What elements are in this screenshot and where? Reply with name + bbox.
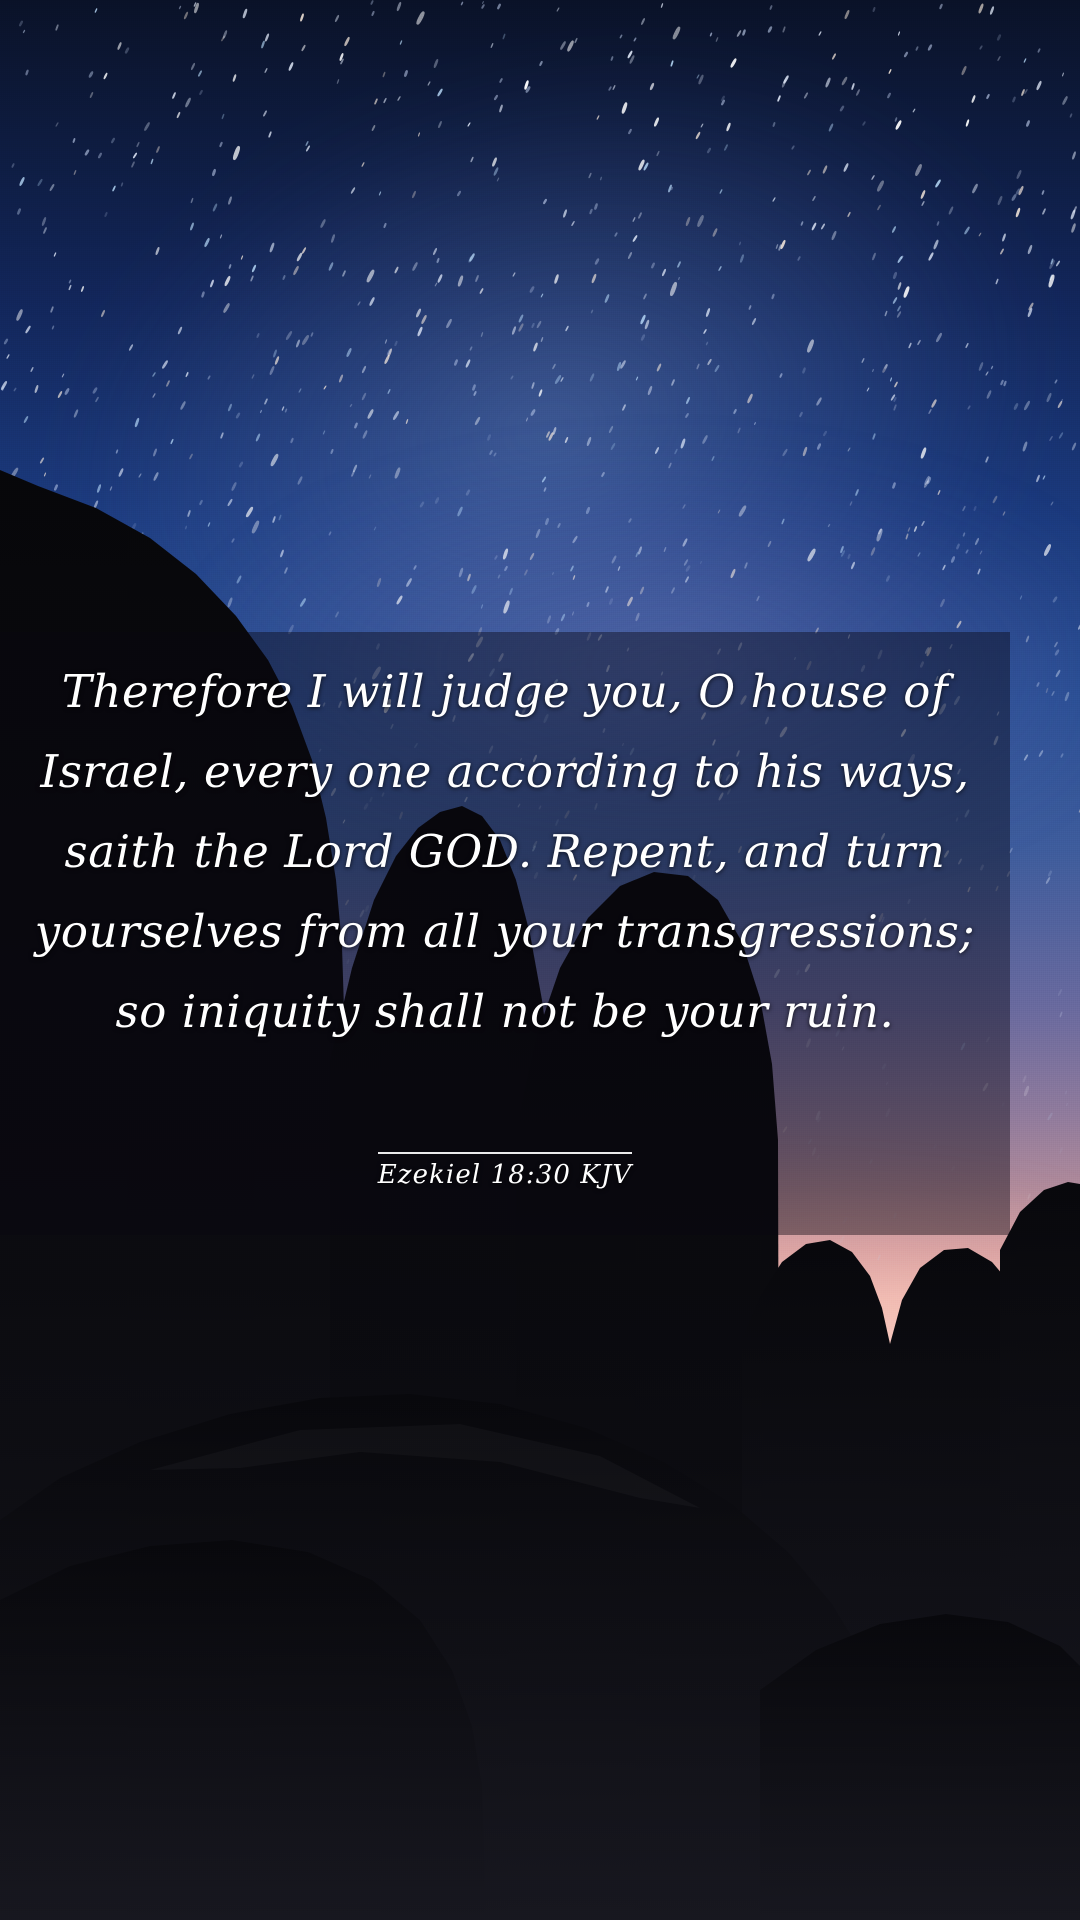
wallpaper-canvas: Therefore I will judge you, O house of I… — [0, 0, 1080, 1920]
verse-line-1: Therefore I will judge you, O house of — [0, 652, 1010, 732]
verse-reference: Ezekiel 18:30 KJV — [378, 1160, 633, 1190]
verse-line-4: yourselves from all your transgressions; — [0, 892, 1010, 972]
verse-attribution-wrap: Ezekiel 18:30 KJV — [0, 1152, 1010, 1190]
verse-line-5: so iniquity shall not be your ruin. — [0, 972, 1010, 1052]
verse-line-2: Israel, every one according to his ways, — [0, 732, 1010, 812]
rock-right-boulder — [760, 1614, 1080, 1920]
attribution-underline-rule: Ezekiel 18:30 KJV — [378, 1152, 633, 1190]
verse-line-3: saith the Lord GOD. Repent, and turn — [0, 812, 1010, 892]
verse-text-block: Therefore I will judge you, O house of I… — [0, 632, 1010, 1052]
